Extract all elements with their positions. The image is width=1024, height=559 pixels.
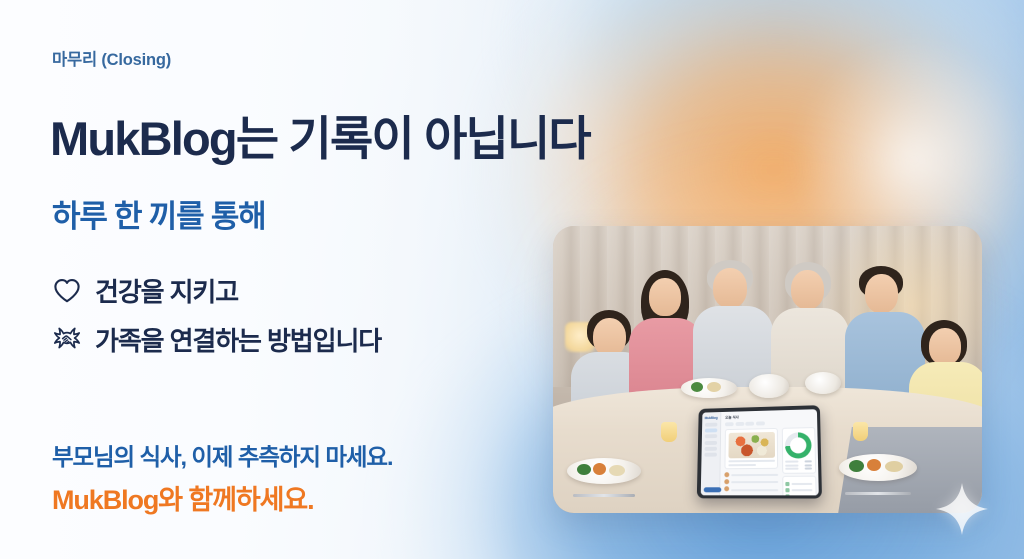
tablet-list-item — [724, 471, 778, 476]
tablet-sidebar: MukBlog — [700, 412, 721, 495]
tablet-chip — [746, 422, 755, 426]
tablet-trend-row — [786, 494, 813, 495]
text-column: 마무리 (Closing) MukBlog는 기록이 아닙니다 하루 한 끼를 … — [52, 0, 552, 559]
tablet-panel-title: 오늘 식사 — [725, 413, 814, 420]
list-item: 가족을 연결하는 방법입니다 — [52, 321, 381, 358]
photo-bowl — [805, 372, 841, 394]
photo-cup — [661, 422, 677, 442]
tablet-chip — [735, 422, 744, 426]
tablet-columns — [724, 427, 817, 495]
tablet-donut-chart — [785, 432, 812, 459]
photo-cup — [853, 422, 868, 441]
family-meal-photo: MukBlog 오늘 식사 — [553, 226, 982, 513]
tablet-text-line — [731, 474, 778, 476]
tablet-nav-item — [704, 453, 717, 457]
tablet-nav-item — [704, 428, 717, 432]
page-title: MukBlog는 기록이 아닙니다 — [50, 114, 590, 163]
sparkle-icon — [934, 481, 990, 537]
tablet-list-item — [724, 479, 778, 484]
tablet-nav-item — [704, 434, 717, 438]
tablet-text-line — [731, 481, 778, 483]
tablet-text-line — [728, 459, 775, 462]
photo-utensil — [573, 494, 635, 497]
photo-plate — [567, 458, 641, 484]
tablet-primary-button — [703, 487, 721, 492]
tablet-item-thumb — [724, 487, 729, 492]
list-item-label: 건강을 지키고 — [95, 272, 238, 309]
tablet-nav-item — [704, 447, 717, 451]
closing-line-1: 부모님의 식사, 이제 추측하지 마세요. — [52, 438, 392, 472]
tablet-item-text — [731, 487, 778, 491]
tablet-chip — [756, 421, 765, 425]
tablet-item-text — [731, 472, 778, 476]
section-eyebrow: 마무리 (Closing) — [52, 46, 171, 70]
photo-utensil — [845, 492, 911, 495]
tablet-trend-row — [785, 482, 812, 486]
tablet-meal-photo — [728, 431, 775, 457]
list-item: 건강을 지키고 — [52, 272, 381, 309]
tablet-list-item — [724, 486, 778, 491]
tablet-trend-row — [786, 488, 813, 492]
tablet-item-thumb — [724, 472, 729, 477]
tablet-stats-column — [781, 427, 816, 495]
tablet-stat-row — [785, 468, 812, 470]
tablet-screen: MukBlog 오늘 식사 — [700, 409, 818, 495]
tablet-brand-label: MukBlog — [705, 415, 718, 419]
tablet-meal-column — [724, 428, 778, 495]
tablet-item-text — [731, 479, 778, 483]
photo-plate — [839, 454, 917, 481]
tablet-nav-item — [704, 441, 717, 445]
heart-outline-icon — [52, 276, 82, 306]
tablet-nutrition-card — [781, 427, 815, 473]
tablet-item-thumb — [724, 479, 729, 484]
tablet-meal-card — [725, 428, 779, 469]
tablet-filter-chips — [725, 420, 815, 426]
closing-line-2: MukBlog와 함께하세요. — [52, 478, 392, 517]
list-item-label: 가족을 연결하는 방법입니다 — [95, 321, 381, 358]
tablet-text-line — [731, 489, 778, 491]
closing-message: 부모님의 식사, 이제 추측하지 마세요. MukBlog와 함께하세요. — [52, 438, 392, 517]
photo-plate — [681, 378, 737, 398]
benefit-list: 건강을 지키고 가족을 연결하는 방법입니다 — [52, 272, 381, 358]
photo-bowl — [749, 374, 789, 398]
photo-content: MukBlog 오늘 식사 — [553, 226, 982, 513]
tablet-nav-item — [704, 422, 717, 426]
closing-slide: 마무리 (Closing) MukBlog는 기록이 아닙니다 하루 한 끼를 … — [0, 0, 1024, 559]
tablet-chip — [725, 422, 734, 426]
tablet-main-panel: 오늘 식사 — [720, 409, 818, 495]
subheadline: 하루 한 끼를 통해 — [52, 200, 265, 235]
tablet-stat-row — [785, 464, 812, 466]
tablet-text-line — [728, 463, 756, 465]
tablet-trend-card — [782, 476, 817, 495]
tablet-stat-row — [785, 460, 812, 462]
handshake-icon — [52, 325, 82, 355]
photo-tablet: MukBlog 오늘 식사 — [697, 405, 822, 498]
